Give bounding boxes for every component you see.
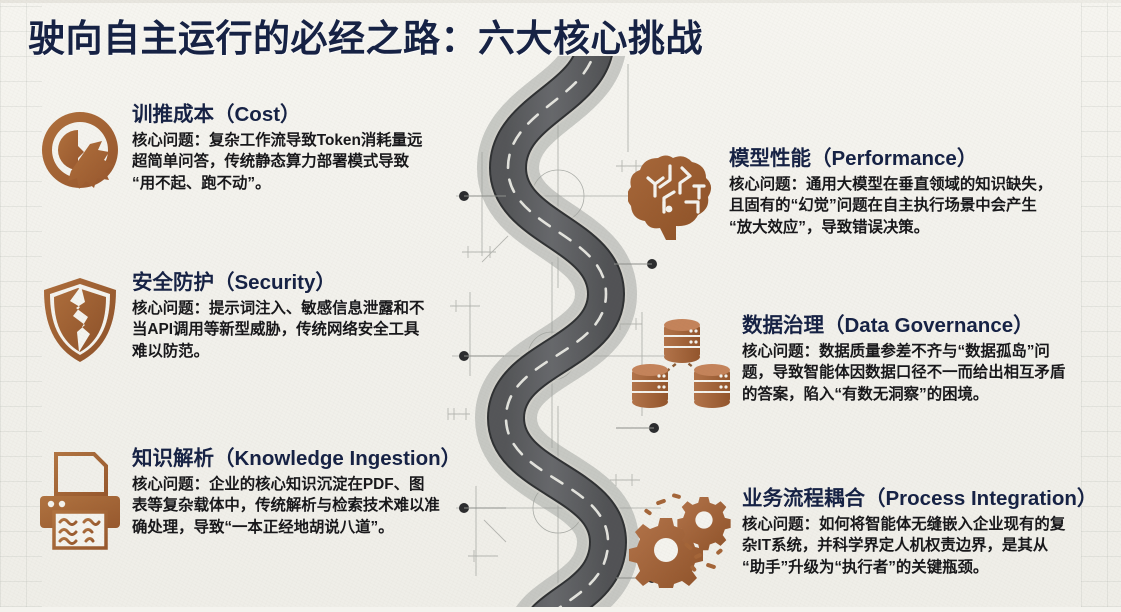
block-heading: 业务流程耦合（Process Integration） (742, 488, 1097, 511)
cracked-shield-icon (34, 272, 126, 373)
cracked-coin-icon (34, 104, 126, 201)
block-heading: 训推成本（Cost） (132, 104, 422, 127)
block-heading: 数据治理（Data Governance） (742, 315, 1065, 338)
top-edge-strip (0, 0, 1121, 3)
page-title: 驶向自主运行的必经之路：六大核心挑战 (28, 8, 703, 62)
block-body: 核心问题：企业的核心知识沉淀在PDF、图 表等复杂载体中，传统解析与检索技术难以… (132, 474, 461, 540)
challenge-block-governance: 数据治理（Data Governance） 核心问题：数据质量参差不齐与“数据孤… (628, 315, 1065, 415)
block-body: 核心问题：如何将智能体无缝嵌入企业现有的复 杂IT系统，并科学界定人机权责边界，… (742, 514, 1097, 580)
challenge-block-process: 业务流程耦合（Process Integration） 核心问题：如何将智能体无… (628, 488, 1097, 593)
brain-circuit-icon (628, 148, 723, 245)
block-body: 核心问题：复杂工作流导致Token消耗量远 超简单问答，传统静态算力部署模式导致… (132, 130, 422, 196)
block-heading: 安全防护（Security） (132, 272, 424, 295)
gears-icon (628, 488, 736, 593)
printer-document-icon (34, 448, 126, 558)
challenge-block-knowledge: 知识解析（Knowledge Ingestion） 核心问题：企业的核心知识沉淀… (34, 448, 461, 558)
block-heading: 知识解析（Knowledge Ingestion） (132, 448, 461, 471)
block-body: 核心问题：数据质量参差不齐与“数据孤岛”问 题，导致智能体因数据口径不一而给出相… (742, 341, 1065, 407)
block-body: 核心问题：通用大模型在垂直领域的知识缺失， 且固有的“幻觉”问题在自主执行场景中… (729, 174, 1052, 240)
block-heading: 模型性能（Performance） (729, 148, 1052, 171)
block-body: 核心问题：提示词注入、敏感信息泄露和不 当API调用等新型威胁，传统网络安全工具… (132, 298, 424, 364)
challenge-block-cost: 训推成本（Cost） 核心问题：复杂工作流导致Token消耗量远 超简单问答，传… (34, 104, 422, 201)
challenge-block-security: 安全防护（Security） 核心问题：提示词注入、敏感信息泄露和不 当API调… (34, 272, 424, 373)
database-cluster-icon (628, 315, 736, 415)
challenge-block-performance: 模型性能（Performance） 核心问题：通用大模型在垂直领域的知识缺失， … (628, 148, 1052, 245)
